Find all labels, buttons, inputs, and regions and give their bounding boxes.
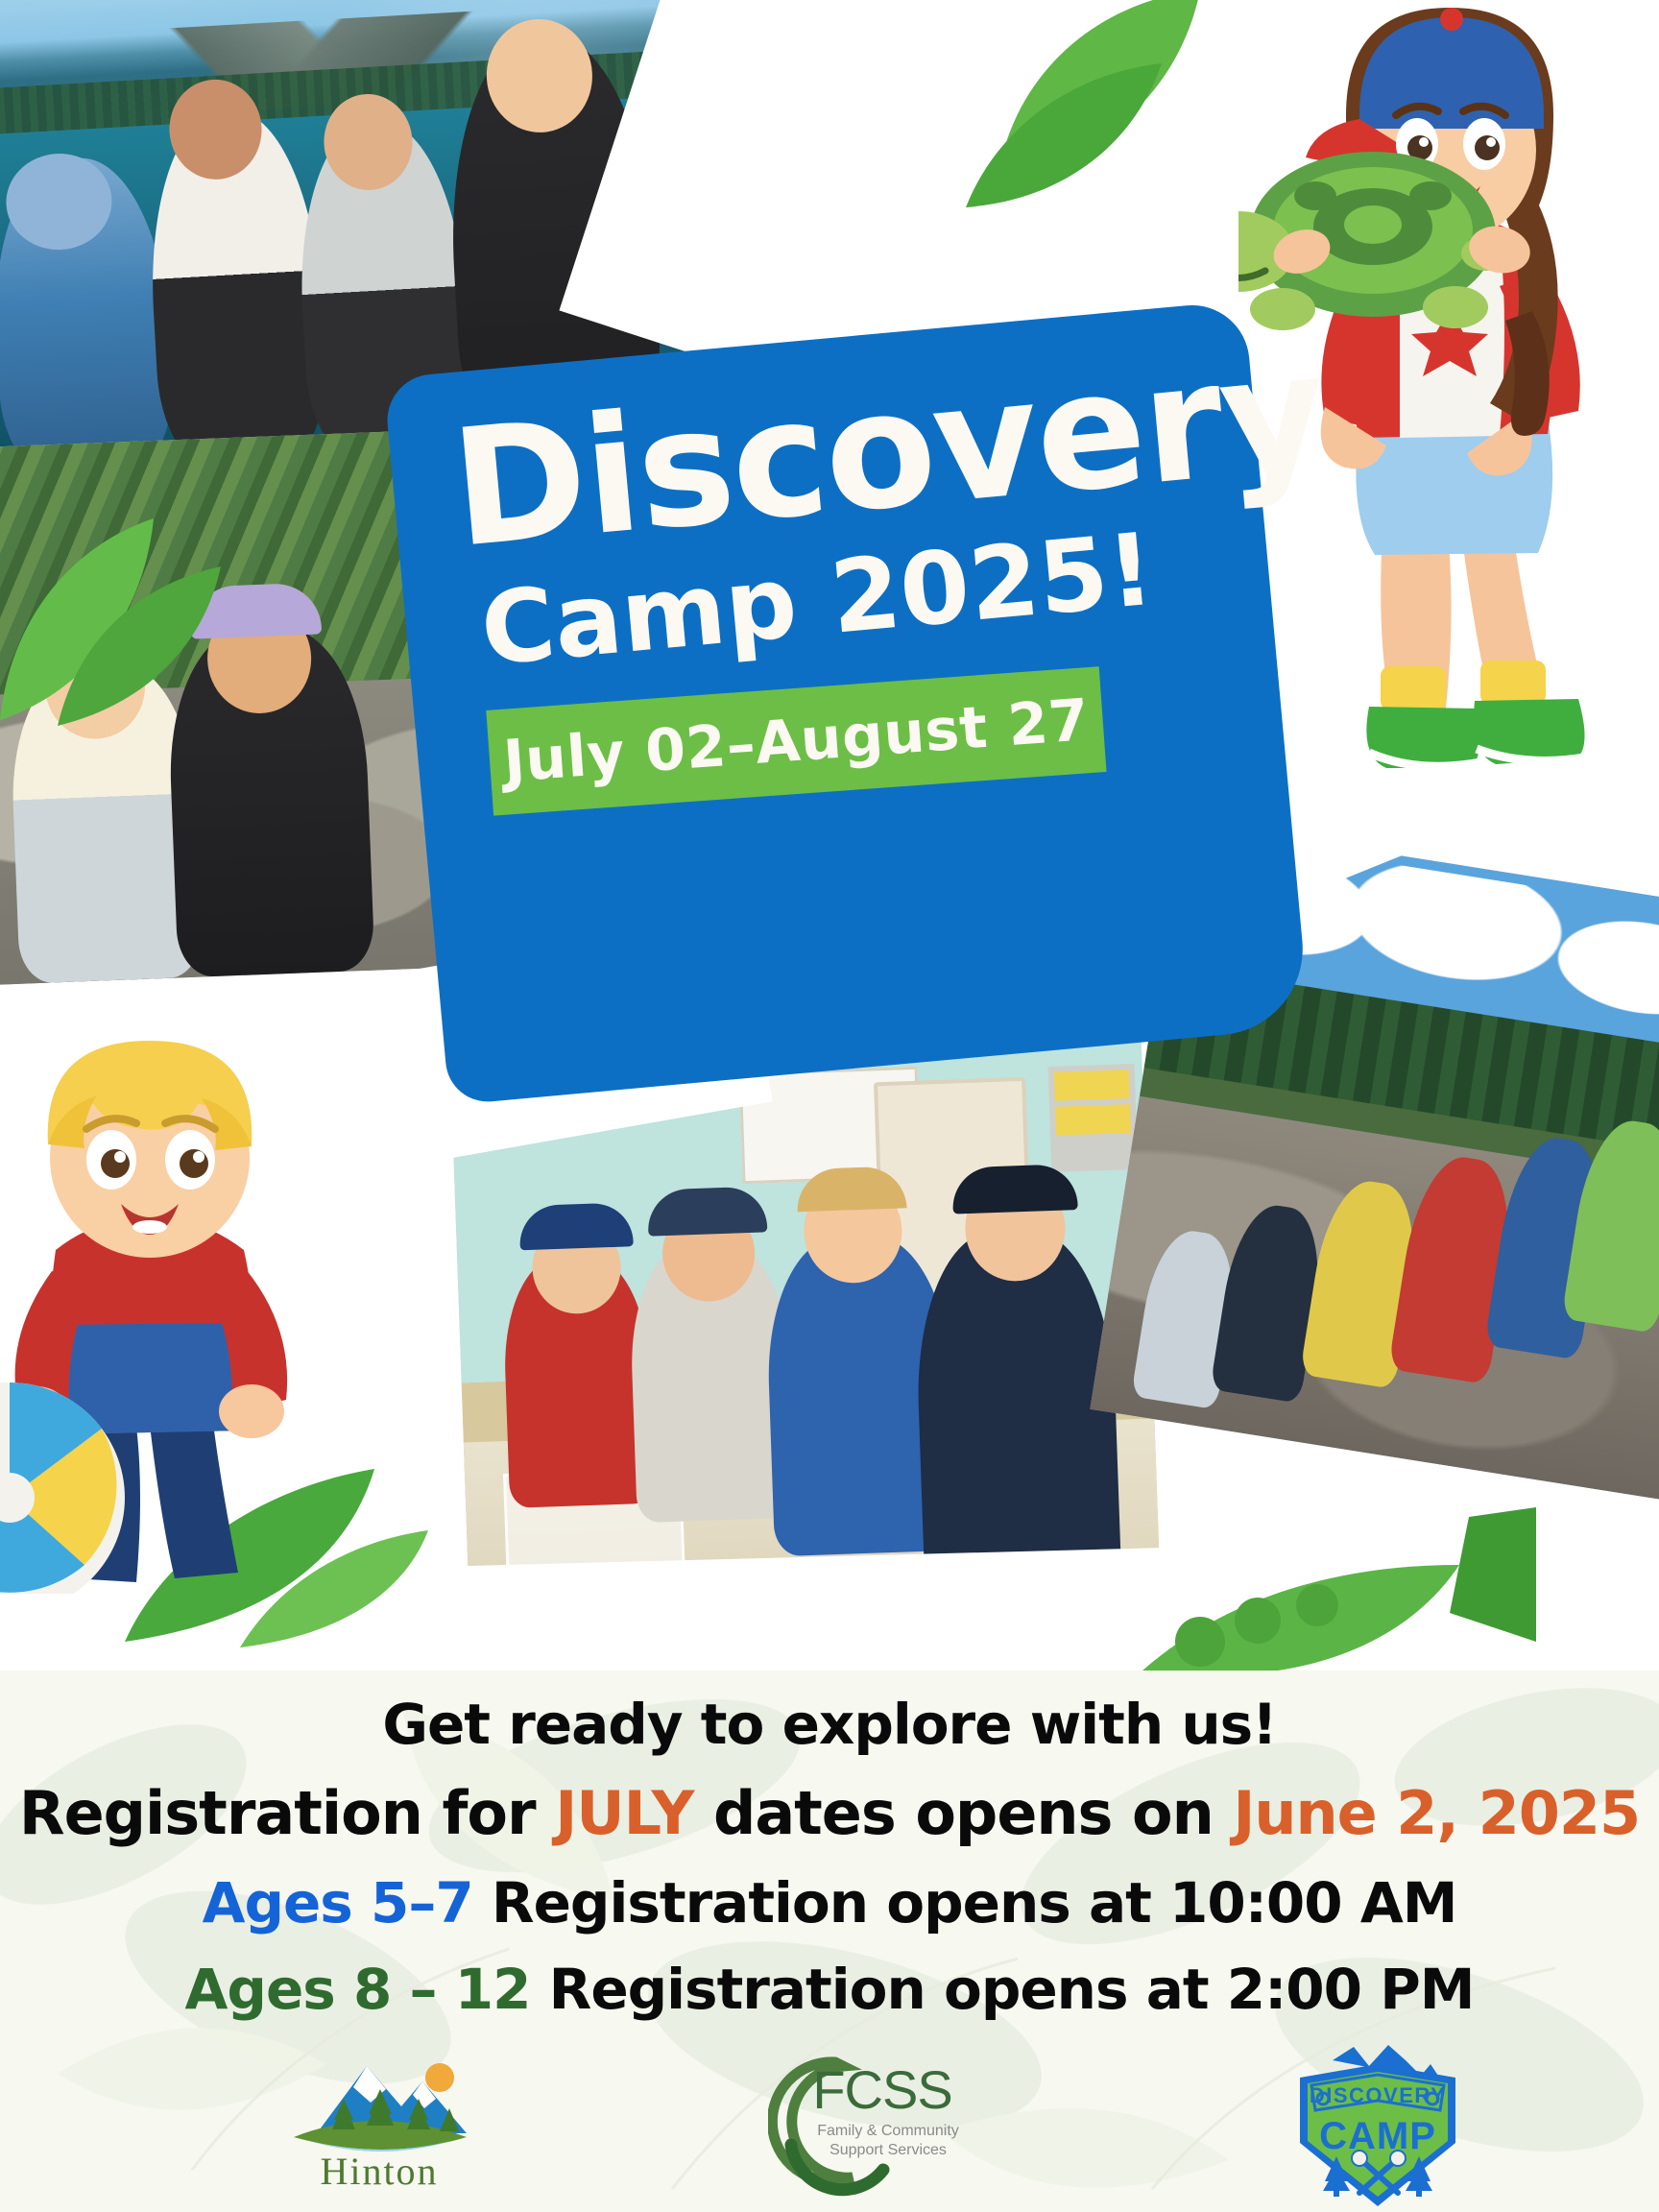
- fcss-tagline-line1: Family & Community: [817, 2123, 959, 2139]
- hinton-wordmark: Hinton: [278, 2149, 480, 2194]
- fcss-tagline-line2: Support Services: [829, 2142, 947, 2158]
- fcss-logo: FCSS Family & Community Support Services: [768, 2053, 970, 2197]
- svg-text:CAMP: CAMP: [1319, 2115, 1436, 2157]
- headline-hook: Get ready to explore with us!: [0, 1692, 1659, 1757]
- registration-date: June 2, 2025: [1233, 1778, 1640, 1848]
- fcss-tagline: Family & Community Support Services: [806, 2122, 970, 2160]
- info-panel: Get ready to explore with us! Registrati…: [0, 1671, 1659, 2212]
- registration-month: JULY: [555, 1778, 693, 1848]
- ages-8-12-label: Ages 8 – 12: [185, 1957, 531, 2022]
- hinton-logo: Hinton: [278, 2049, 480, 2202]
- ages-5-7-line: Ages 5–7 Registration opens at 10:00 AM: [0, 1870, 1659, 1935]
- poster-root: Discovery Camp 2025! July 02–August 27: [0, 0, 1659, 2212]
- date-badge-label: July 02–August 27: [486, 666, 1106, 815]
- leaf-decor-left: [0, 499, 240, 730]
- logo-row: Hinton FCSS Family & Community Support S…: [0, 2049, 1659, 2212]
- title-banner-content: Discovery Camp 2025! July 02–August 27: [383, 301, 1310, 1105]
- registration-prefix: Registration for: [19, 1778, 555, 1848]
- discovery-camp-badge-logo: DISCOVERY CAMP: [1286, 2043, 1469, 2211]
- ages-8-12-time: Registration opens at 2:00 PM: [530, 1957, 1474, 2022]
- mascot-girl-with-turtle: [1238, 0, 1642, 829]
- ages-8-12-line: Ages 8 – 12 Registration opens at 2:00 P…: [0, 1957, 1659, 2022]
- svg-text:DISCOVERY: DISCOVERY: [1310, 2083, 1446, 2107]
- ages-5-7-label: Ages 5–7: [203, 1870, 473, 1935]
- ages-5-7-time: Registration opens at 10:00 AM: [473, 1870, 1457, 1935]
- mascot-boy-with-beachball: [0, 1037, 336, 1594]
- registration-line: Registration for JULY dates opens on Jun…: [0, 1778, 1659, 1848]
- registration-middle: dates opens on: [693, 1778, 1233, 1848]
- leaf-decor-top-right: [960, 0, 1267, 230]
- fcss-acronym: FCSS: [801, 2058, 964, 2121]
- date-badge: July 02–August 27: [486, 666, 1106, 815]
